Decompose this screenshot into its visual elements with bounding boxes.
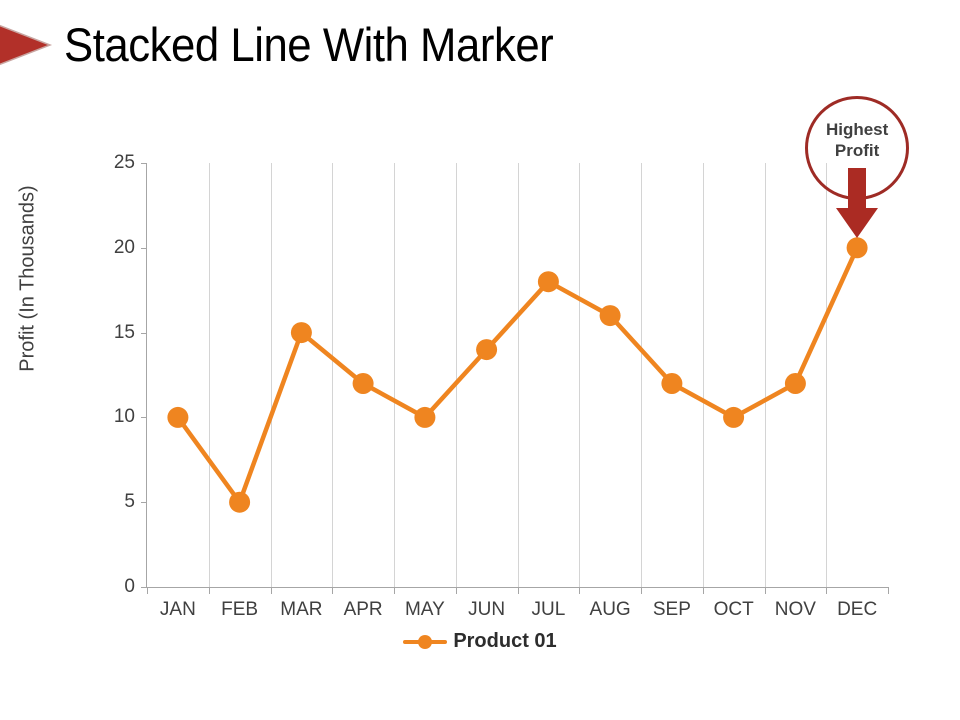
y-tick-mark: [141, 333, 147, 334]
x-tick-mark: [765, 587, 766, 594]
gridline-vertical: [579, 163, 580, 587]
x-tick-mark: [332, 587, 333, 594]
x-tick-mark: [703, 587, 704, 594]
x-tick-mark: [394, 587, 395, 594]
legend-marker-icon: [403, 633, 447, 651]
y-axis-title: Profit (In Thousands): [17, 119, 40, 439]
y-tick-label: 20: [91, 238, 135, 257]
callout-line-1: Highest: [826, 120, 888, 139]
y-tick-label: 25: [91, 153, 135, 172]
gridline-vertical: [332, 163, 333, 587]
x-tick-mark: [147, 587, 148, 594]
x-tick-mark: [888, 587, 889, 594]
callout-label: Highest Profit: [805, 119, 909, 161]
triangle-right-icon: [0, 14, 56, 76]
gridline-vertical: [518, 163, 519, 587]
y-tick-label: 0: [91, 577, 135, 596]
y-tick-mark: [141, 417, 147, 418]
x-tick-mark: [826, 587, 827, 594]
y-tick-mark: [141, 248, 147, 249]
y-tick-mark: [141, 163, 147, 164]
x-tick-label: MAR: [271, 599, 333, 621]
gridline-vertical: [456, 163, 457, 587]
x-tick-label: DEC: [826, 599, 888, 621]
legend-label: Product 01: [453, 630, 556, 653]
x-tick-label: SEP: [641, 599, 703, 621]
x-tick-label: FEB: [209, 599, 271, 621]
x-tick-mark: [518, 587, 519, 594]
chart-legend: Product 01: [0, 630, 960, 653]
y-tick-label: 5: [91, 492, 135, 511]
x-tick-label: APR: [332, 599, 394, 621]
x-tick-label: AUG: [579, 599, 641, 621]
legend-item[interactable]: Product 01: [403, 630, 556, 653]
x-tick-mark: [271, 587, 272, 594]
x-tick-mark: [579, 587, 580, 594]
callout-line-2: Profit: [835, 141, 879, 160]
plot-area: [147, 163, 888, 587]
x-tick-label: JAN: [147, 599, 209, 621]
gridline-vertical: [271, 163, 272, 587]
down-arrow-icon: [835, 168, 879, 240]
gridline-vertical: [641, 163, 642, 587]
line-chart: Profit (In Thousands) 0510152025 JANFEBM…: [0, 92, 960, 720]
x-tick-label: MAY: [394, 599, 456, 621]
y-tick-label: 15: [91, 323, 135, 342]
x-tick-mark: [641, 587, 642, 594]
x-tick-label: NOV: [765, 599, 827, 621]
x-tick-label: JUL: [518, 599, 580, 621]
x-tick-label: OCT: [703, 599, 765, 621]
gridline-vertical: [394, 163, 395, 587]
x-tick-mark: [209, 587, 210, 594]
gridline-vertical: [703, 163, 704, 587]
gridline-vertical: [209, 163, 210, 587]
x-tick-label: JUN: [456, 599, 518, 621]
y-tick-mark: [141, 502, 147, 503]
page-title: Stacked Line With Marker: [64, 16, 553, 74]
slide-header: Stacked Line With Marker: [0, 0, 960, 92]
x-tick-mark: [456, 587, 457, 594]
gridline-vertical: [765, 163, 766, 587]
y-tick-label: 10: [91, 407, 135, 426]
highest-profit-callout: Highest Profit: [805, 96, 917, 246]
